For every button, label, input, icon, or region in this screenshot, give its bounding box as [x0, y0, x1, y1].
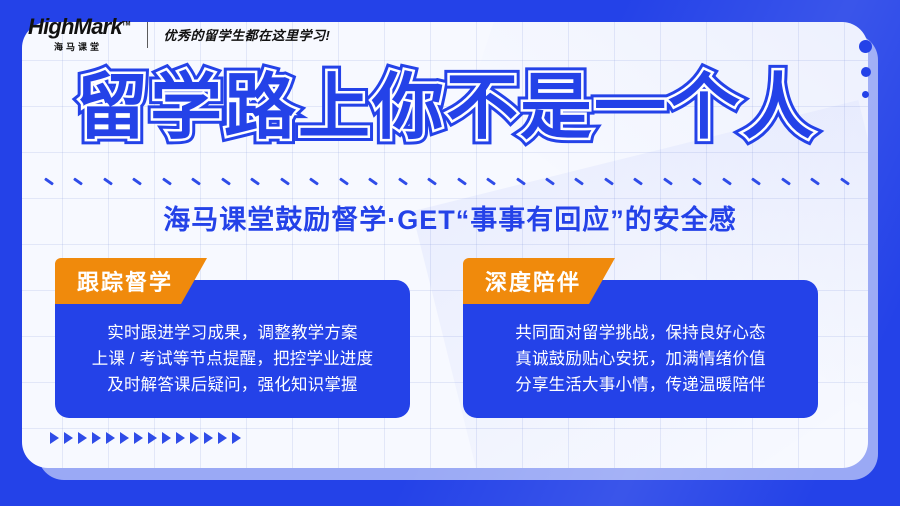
highmark-logo: HighMarkTM 海马课堂 [28, 16, 131, 53]
feature-card-tracking: 跟踪督学 实时跟进学习成果，调整教学方案 上课 / 考试等节点提醒，把控学业进度… [55, 258, 410, 418]
dash-mark [604, 177, 614, 185]
triangle-arrow-icon [232, 432, 241, 444]
card-header-tab: 跟踪督学 [55, 258, 207, 304]
triangle-arrow-icon [176, 432, 185, 444]
dash-mark [486, 177, 496, 185]
dash-mark [663, 177, 673, 185]
corner-dots-decoration [859, 40, 872, 98]
triangle-arrow-icon [218, 432, 227, 444]
poster-banner: HighMarkTM 海马课堂 优秀的留学生都在这里学习! 留学路上你不是一个人… [0, 0, 900, 506]
card-line: 实时跟进学习成果，调整教学方案 [71, 320, 394, 346]
dash-mark [280, 177, 290, 185]
dot-icon [861, 67, 871, 77]
logo-wordmark-text: HighMark [28, 14, 122, 39]
brand-header: HighMarkTM 海马课堂 优秀的留学生都在这里学习! [28, 16, 330, 53]
dash-mark [427, 177, 437, 185]
dash-mark [191, 177, 201, 185]
triangle-arrow-icon [162, 432, 171, 444]
triangle-arrow-icon [78, 432, 87, 444]
dash-mark [309, 177, 319, 185]
page-subtitle: 海马课堂鼓励督学·GET“事事有回应”的安全感 [0, 198, 900, 237]
triangle-arrow-icon [134, 432, 143, 444]
triangle-arrow-icon [50, 432, 59, 444]
card-line: 共同面对留学挑战，保持良好心态 [479, 320, 802, 346]
dash-mark [457, 177, 467, 185]
dash-mark [722, 177, 732, 185]
card-title: 跟踪督学 [77, 265, 173, 297]
triangle-arrow-icon [120, 432, 129, 444]
triangle-arrow-icon [148, 432, 157, 444]
triangle-arrow-icon [190, 432, 199, 444]
dash-mark [132, 177, 142, 185]
card-line: 真诚鼓励贴心安抚，加满情绪价值 [479, 346, 802, 372]
logo-chinese-name: 海马课堂 [54, 40, 102, 53]
dash-mark [74, 177, 84, 185]
card-title: 深度陪伴 [485, 265, 581, 297]
card-text-block: 共同面对留学挑战，保持良好心态 真诚鼓励贴心安抚，加满情绪价值 分享生活大事小情… [463, 320, 818, 398]
dash-mark [103, 177, 113, 185]
triangle-arrow-icon [92, 432, 101, 444]
card-header-tab: 深度陪伴 [463, 258, 615, 304]
dash-mark [44, 177, 54, 185]
dash-mark [368, 177, 378, 185]
logo-trademark: TM [122, 22, 131, 28]
poster-content: HighMarkTM 海马课堂 优秀的留学生都在这里学习! 留学路上你不是一个人… [0, 0, 900, 506]
card-line: 分享生活大事小情，传递温暖陪伴 [479, 372, 802, 398]
dash-mark [692, 177, 702, 185]
dash-mark [633, 177, 643, 185]
dash-mark [545, 177, 555, 185]
arrow-decoration-row [50, 432, 241, 444]
dash-mark [840, 177, 850, 185]
dash-mark [516, 177, 526, 185]
dash-mark [810, 177, 820, 185]
dot-icon [859, 40, 872, 53]
triangle-arrow-icon [204, 432, 213, 444]
triangle-arrow-icon [106, 432, 115, 444]
dash-mark [221, 177, 231, 185]
card-line: 及时解答课后疑问，强化知识掌握 [71, 372, 394, 398]
dash-mark [250, 177, 260, 185]
page-title: 留学路上你不是一个人 [36, 72, 856, 144]
dot-icon [862, 91, 869, 98]
header-divider [147, 22, 148, 48]
card-line: 上课 / 考试等节点提醒，把控学业进度 [71, 346, 394, 372]
dash-mark [781, 177, 791, 185]
brand-tagline: 优秀的留学生都在这里学习! [164, 25, 331, 44]
card-text-block: 实时跟进学习成果，调整教学方案 上课 / 考试等节点提醒，把控学业进度 及时解答… [55, 320, 410, 398]
dashed-divider [44, 174, 850, 188]
triangle-arrow-icon [64, 432, 73, 444]
dash-mark [339, 177, 349, 185]
logo-wordmark: HighMarkTM [28, 16, 131, 38]
dash-mark [162, 177, 172, 185]
dash-mark [574, 177, 584, 185]
feature-card-companionship: 深度陪伴 共同面对留学挑战，保持良好心态 真诚鼓励贴心安抚，加满情绪价值 分享生… [463, 258, 818, 418]
dash-mark [751, 177, 761, 185]
dash-mark [398, 177, 408, 185]
